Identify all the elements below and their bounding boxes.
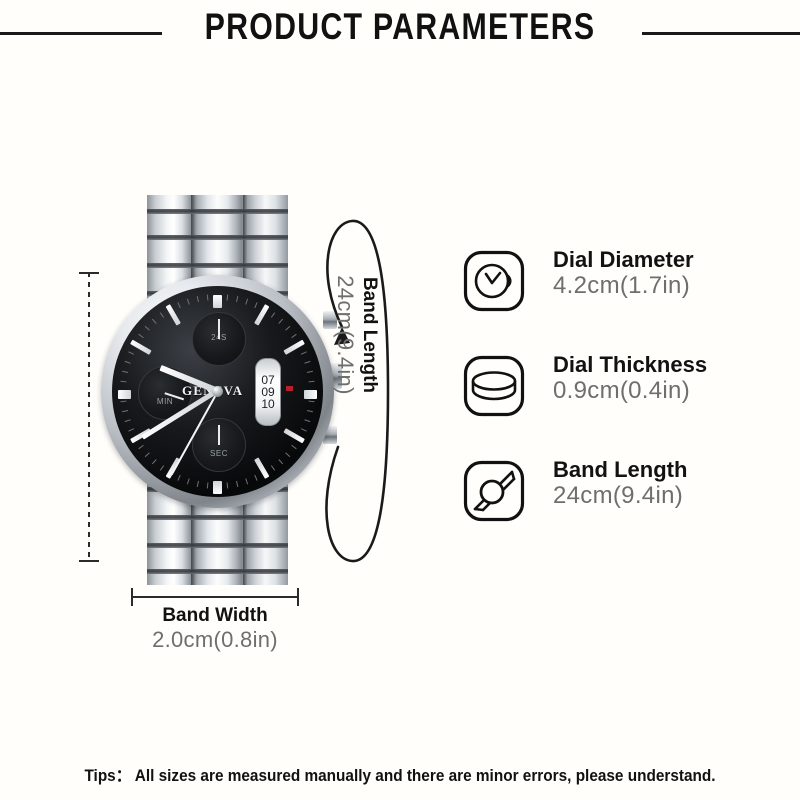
band-width-dimension-text: Band Width 2.0cm(0.8in) — [85, 604, 345, 654]
subdial-sec-hand — [218, 425, 220, 445]
dial-minute-tick — [304, 419, 310, 422]
watch-product-image: 24S MIN SEC GENEVA 07 09 10 — [95, 195, 340, 585]
dial-minute-tick — [128, 428, 134, 431]
dial-minute-tick — [120, 401, 126, 403]
dial-minute-tick — [245, 299, 248, 305]
spec-row-dial-thickness: Dial Thickness 0.9cm(0.4in) — [463, 353, 793, 423]
watch-dial-icon — [463, 250, 525, 312]
dial-hour-marker — [118, 390, 131, 399]
band-length-loop-value: 24cm(9.4in) — [332, 220, 358, 450]
watch-dial: 24S MIN SEC GENEVA 07 09 10 — [112, 286, 323, 497]
band-width-dimension-value: 2.0cm(0.8in) — [85, 627, 345, 654]
dial-minute-tick — [254, 475, 257, 481]
dial-hour-marker — [213, 295, 222, 308]
dial-minute-tick — [122, 371, 128, 373]
dial-minute-tick — [152, 319, 157, 324]
dial-minute-tick — [125, 419, 131, 422]
dial-minute-tick — [227, 482, 229, 488]
footer-tips: Tips： All sizes are measured manually an… — [28, 762, 772, 786]
dial-minute-tick — [207, 294, 209, 300]
dial-minute-tick — [138, 445, 143, 449]
dial-minute-tick — [285, 452, 290, 457]
band-width-dimension-label: Band Width — [85, 604, 345, 627]
band-length-loop: Band Length 24cm(9.4in) — [312, 215, 390, 567]
dial-hour-marker — [283, 428, 305, 443]
dial-minute-tick — [278, 459, 283, 464]
hands-center-pin — [212, 386, 223, 397]
dial-minute-tick — [187, 299, 190, 305]
subdial-24s-hand — [218, 319, 220, 339]
dial-minute-tick — [245, 478, 248, 484]
band-length-loop-text: Band Length 24cm(9.4in) — [324, 220, 380, 450]
spec-label-dial-diameter: Dial Diameter — [553, 248, 694, 273]
dial-minute-tick — [236, 296, 238, 302]
dial-minute-tick — [197, 481, 199, 487]
spec-label-band-length: Band Length — [553, 458, 687, 483]
dial-minute-tick — [207, 482, 209, 488]
dial-minute-tick — [145, 452, 150, 457]
dial-minute-tick — [120, 381, 126, 383]
dial-hour-marker — [254, 304, 269, 326]
spec-text-band-length: Band Length 24cm(9.4in) — [553, 458, 687, 510]
dial-minute-tick — [187, 478, 190, 484]
dial-hour-marker — [254, 457, 269, 479]
dial-minute-tick — [271, 312, 275, 317]
dial-minute-tick — [304, 361, 310, 364]
dial-minute-tick — [271, 465, 275, 470]
spec-text-dial-thickness: Dial Thickness 0.9cm(0.4in) — [553, 353, 707, 405]
dial-minute-tick — [177, 302, 180, 308]
dial-minute-tick — [285, 326, 290, 331]
dial-minute-tick — [291, 334, 296, 338]
watch-case: 24S MIN SEC GENEVA 07 09 10 — [101, 275, 334, 508]
subdial-sec-label: SEC — [193, 449, 245, 458]
page-header: PRODUCT PARAMETERS — [0, 0, 800, 66]
dial-minute-tick — [301, 428, 307, 431]
band-length-loop-label: Band Length — [358, 220, 380, 450]
subdial-sec: SEC — [192, 418, 246, 472]
watch-strap-icon — [463, 460, 525, 522]
dial-minute-tick — [128, 351, 134, 354]
dial-minute-tick — [160, 465, 164, 470]
dial-diameter-dimension-line — [88, 272, 90, 562]
spec-row-dial-diameter: Dial Diameter 4.2cm(1.7in) — [463, 248, 793, 318]
date-window: 07 09 10 — [255, 358, 281, 426]
dial-minute-tick — [236, 481, 238, 487]
dial-minute-tick — [301, 351, 307, 354]
dial-hour-marker — [213, 481, 222, 494]
spec-text-dial-diameter: Dial Diameter 4.2cm(1.7in) — [553, 248, 694, 300]
dial-minute-tick — [278, 319, 283, 324]
subdial-24s: 24S — [192, 312, 246, 366]
spec-value-dial-thickness: 0.9cm(0.4in) — [553, 378, 707, 405]
dial-minute-tick — [177, 475, 180, 481]
dial-minute-tick — [125, 361, 131, 364]
dial-minute-tick — [122, 410, 128, 412]
spec-value-dial-diameter: 4.2cm(1.7in) — [553, 273, 694, 300]
band-width-dimension-line — [131, 596, 299, 598]
page-title: PRODUCT PARAMETERS — [72, 6, 728, 48]
spec-label-dial-thickness: Dial Thickness — [553, 353, 707, 378]
dial-minute-tick — [160, 312, 164, 317]
header-rule-right — [642, 32, 800, 35]
spec-value-band-length: 24cm(9.4in) — [553, 483, 687, 510]
dial-minute-tick — [254, 302, 257, 308]
dial-minute-tick — [291, 445, 296, 449]
date-digit-next: 10 — [261, 398, 274, 410]
dial-red-accent — [286, 386, 293, 391]
disc-thickness-icon — [463, 355, 525, 417]
spec-list: Dial Diameter 4.2cm(1.7in) Dial Thicknes… — [463, 248, 793, 563]
dial-minute-tick — [152, 459, 157, 464]
dial-minute-tick — [145, 326, 150, 331]
dial-minute-tick — [227, 294, 229, 300]
dial-minute-tick — [197, 296, 199, 302]
dial-minute-tick — [138, 334, 143, 338]
spec-row-band-length: Band Length 24cm(9.4in) — [463, 458, 793, 528]
